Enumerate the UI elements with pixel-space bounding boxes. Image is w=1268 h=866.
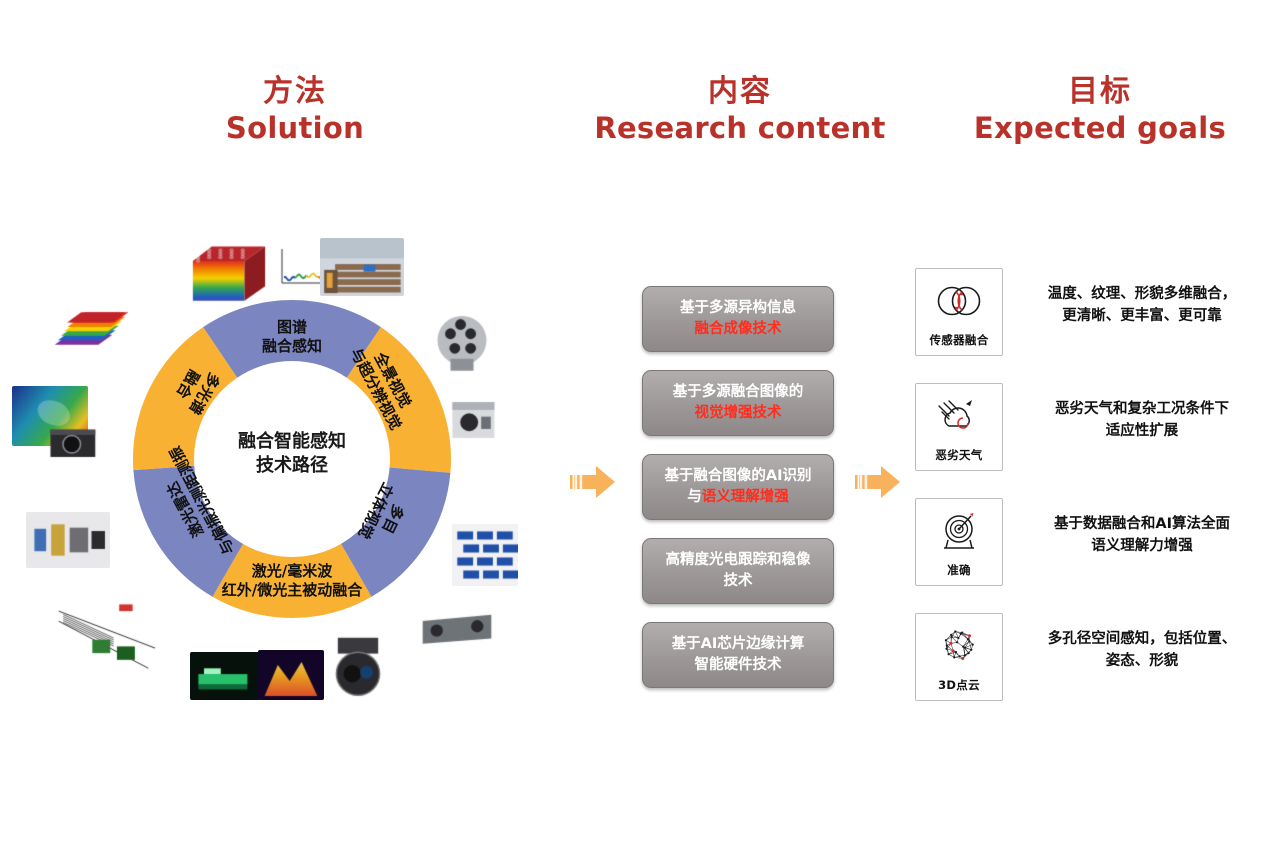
deco-gimbal-turret	[322, 632, 394, 704]
deco-spectral-stack	[50, 300, 128, 356]
goal-card-bad-weather[interactable]: 恶劣天气	[915, 383, 1003, 471]
point-cloud-icon	[916, 614, 1002, 677]
goal-card-accuracy[interactable]: 准确	[915, 498, 1003, 586]
arrow-content-to-goals	[855, 460, 903, 504]
goal-row: 3D点云 多孔径空间感知，包括位置、 姿态、形貌	[915, 613, 1255, 728]
heading-en: Solution	[170, 111, 420, 146]
heading-en: Expected goals	[940, 111, 1260, 146]
heading-en: Research content	[580, 111, 900, 146]
goal-card-point-cloud[interactable]: 3D点云	[915, 613, 1003, 701]
content-box-line2: 与语义理解增强	[651, 487, 825, 508]
goal-description: 温度、纹理、形貌多维融合， 更清晰、更丰富、更可靠	[1029, 284, 1255, 328]
deco-pipeline-photo	[320, 238, 404, 296]
content-box[interactable]: 基于多源融合图像的 视觉增强技术	[642, 370, 834, 436]
deco-camera-module	[46, 420, 102, 464]
goal-card-caption: 传感器融合	[930, 332, 989, 348]
deco-optical-instrument	[444, 392, 504, 448]
goal-description: 恶劣天气和复杂工况条件下 适应性扩展	[1029, 399, 1255, 443]
content-box[interactable]: 基于融合图像的AI识别 与语义理解增强	[642, 454, 834, 520]
deco-polarization-optics	[26, 512, 110, 568]
deco-structured-light-pattern	[452, 524, 518, 586]
goal-card-caption: 恶劣天气	[935, 447, 982, 463]
goal-description: 基于数据融合和AI算法全面 语义理解力增强	[1029, 514, 1255, 558]
wheel-segment-top[interactable]	[203, 300, 381, 378]
content-box[interactable]: 基于AI芯片边缘计算 智能硬件技术	[642, 622, 834, 688]
target-accuracy-icon	[916, 499, 1002, 562]
heading-cn: 方法	[170, 74, 420, 111]
expected-goals-list: 传感器融合 温度、纹理、形貌多维融合， 更清晰、更丰富、更可靠	[915, 268, 1255, 728]
content-box[interactable]: 基于多源异构信息 融合成像技术	[642, 286, 834, 352]
goal-row: 准确 基于数据融合和AI算法全面 语义理解力增强	[915, 498, 1255, 613]
heading-cn: 目标	[940, 74, 1260, 111]
content-box-line1: 基于AI芯片边缘计算	[651, 634, 825, 655]
deco-night-vision-photo	[190, 652, 260, 700]
goal-card-caption: 3D点云	[938, 677, 980, 693]
technology-roadmap-wheel: 图谱 融合感知 全景视觉 与超分辨视觉 多目 立体视觉 激光/毫米波 红外/微光…	[133, 300, 451, 618]
deco-hyperspectral-cube	[186, 240, 272, 306]
content-box-line2: 视觉增强技术	[651, 403, 825, 424]
diagram-canvas: 方法 Solution 内容 Research content 目标 Expec…	[0, 0, 1268, 866]
column-heading-solution: 方法 Solution	[170, 74, 420, 146]
deco-thermal-scene-photo	[258, 650, 324, 700]
wheel-center-label: 融合智能感知 技术路径	[192, 430, 392, 479]
sensor-fusion-icon	[916, 269, 1002, 332]
goal-card-sensor-fusion[interactable]: 传感器融合	[915, 268, 1003, 356]
goal-description: 多孔径空间感知，包括位置、 姿态、形貌	[1029, 629, 1255, 673]
content-box-line2: 技术	[651, 571, 825, 592]
column-heading-content: 内容 Research content	[580, 74, 900, 146]
content-box-line2: 智能硬件技术	[651, 655, 825, 676]
content-box[interactable]: 高精度光电跟踪和稳像 技术	[642, 538, 834, 604]
goal-row: 传感器融合 温度、纹理、形貌多维融合， 更清晰、更丰富、更可靠	[915, 268, 1255, 383]
heading-cn: 内容	[580, 74, 900, 111]
goal-card-caption: 准确	[947, 562, 971, 578]
content-box-line1: 基于融合图像的AI识别	[651, 466, 825, 487]
bad-weather-icon	[916, 384, 1002, 447]
content-box-line1: 基于多源异构信息	[651, 298, 825, 319]
content-box-line1: 基于多源融合图像的	[651, 382, 825, 403]
content-box-line1: 高精度光电跟踪和稳像	[651, 550, 825, 571]
goal-row: 恶劣天气 恶劣天气和复杂工况条件下 适应性扩展	[915, 383, 1255, 498]
research-content-list: 基于多源异构信息 融合成像技术 基于多源融合图像的 视觉增强技术 基于融合图像的…	[642, 286, 834, 706]
content-box-line2: 融合成像技术	[651, 319, 825, 340]
arrow-solution-to-content	[570, 460, 618, 504]
column-heading-goals: 目标 Expected goals	[940, 74, 1260, 146]
